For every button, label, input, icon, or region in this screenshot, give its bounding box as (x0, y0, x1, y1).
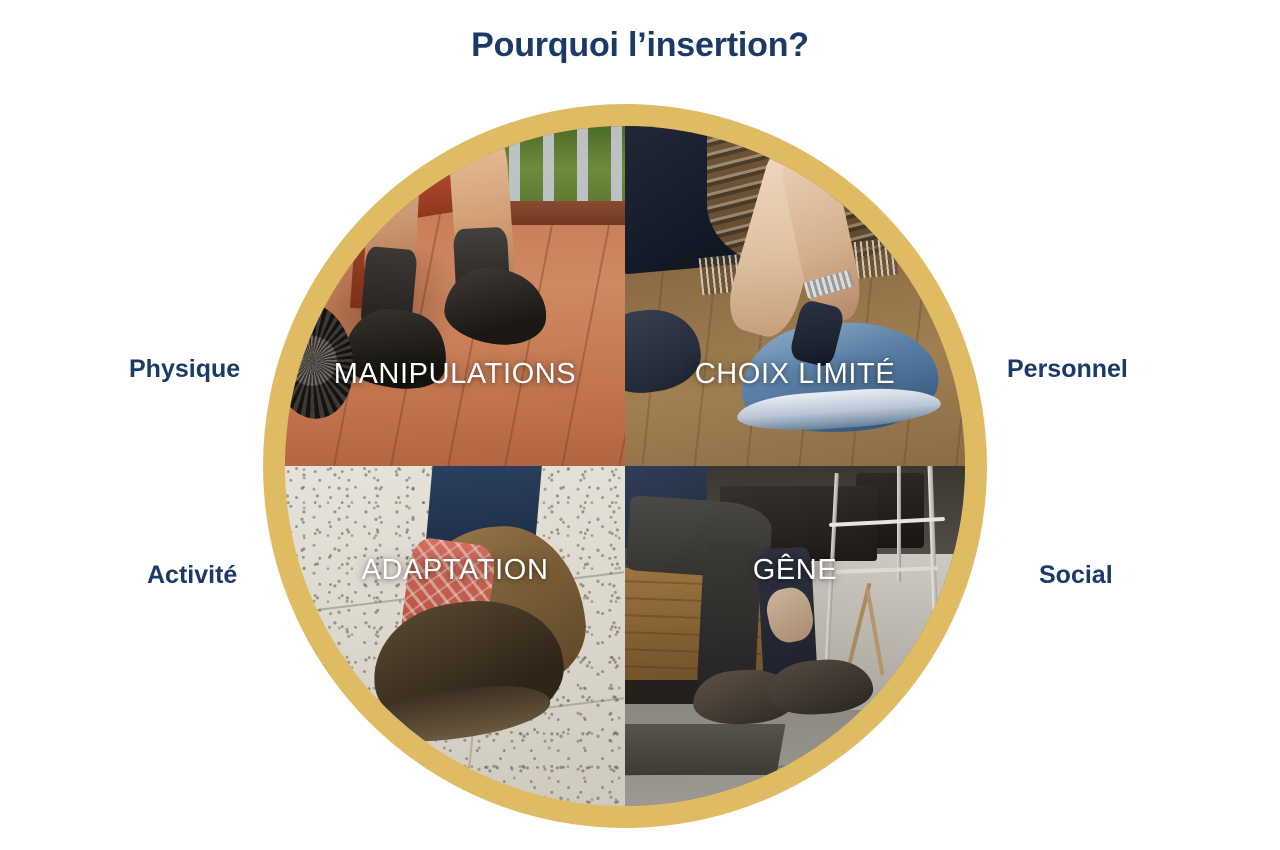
quadrant-label-gene: GÊNE (625, 554, 965, 587)
axis-label-activite: Activité (147, 561, 237, 590)
infographic-canvas: Pourquoi l’insertion? (0, 0, 1280, 850)
quadrant-wheel: MANIPULATIONS CHOIX LIMITÉ (263, 104, 987, 828)
photo-putting-on-blue-shoe (625, 126, 965, 466)
quadrant-gene[interactable]: GÊNE (625, 466, 965, 806)
axis-label-social: Social (1039, 561, 1113, 590)
walker-wheel (917, 643, 943, 669)
quadrant-manipulations[interactable]: MANIPULATIONS (285, 126, 625, 466)
quadrant-adaptation[interactable]: ADAPTATION (285, 466, 625, 806)
quadrant-choix-limite[interactable]: CHOIX LIMITÉ (625, 126, 965, 466)
quadrant-wheel-inner: MANIPULATIONS CHOIX LIMITÉ (285, 126, 965, 806)
quadrant-label-adaptation: ADAPTATION (285, 554, 625, 587)
axis-label-physique: Physique (129, 355, 240, 384)
axis-label-personnel: Personnel (1007, 355, 1128, 384)
page-title: Pourquoi l’insertion? (0, 26, 1280, 65)
photo-deck-walker-wheel (285, 126, 625, 466)
photo-adapted-shoe-vinyl-floor (285, 466, 625, 806)
quadrant-label-choix-limite: CHOIX LIMITÉ (625, 358, 965, 391)
photo-bench-public-space (625, 466, 965, 806)
quadrant-label-manipulations: MANIPULATIONS (285, 358, 625, 391)
